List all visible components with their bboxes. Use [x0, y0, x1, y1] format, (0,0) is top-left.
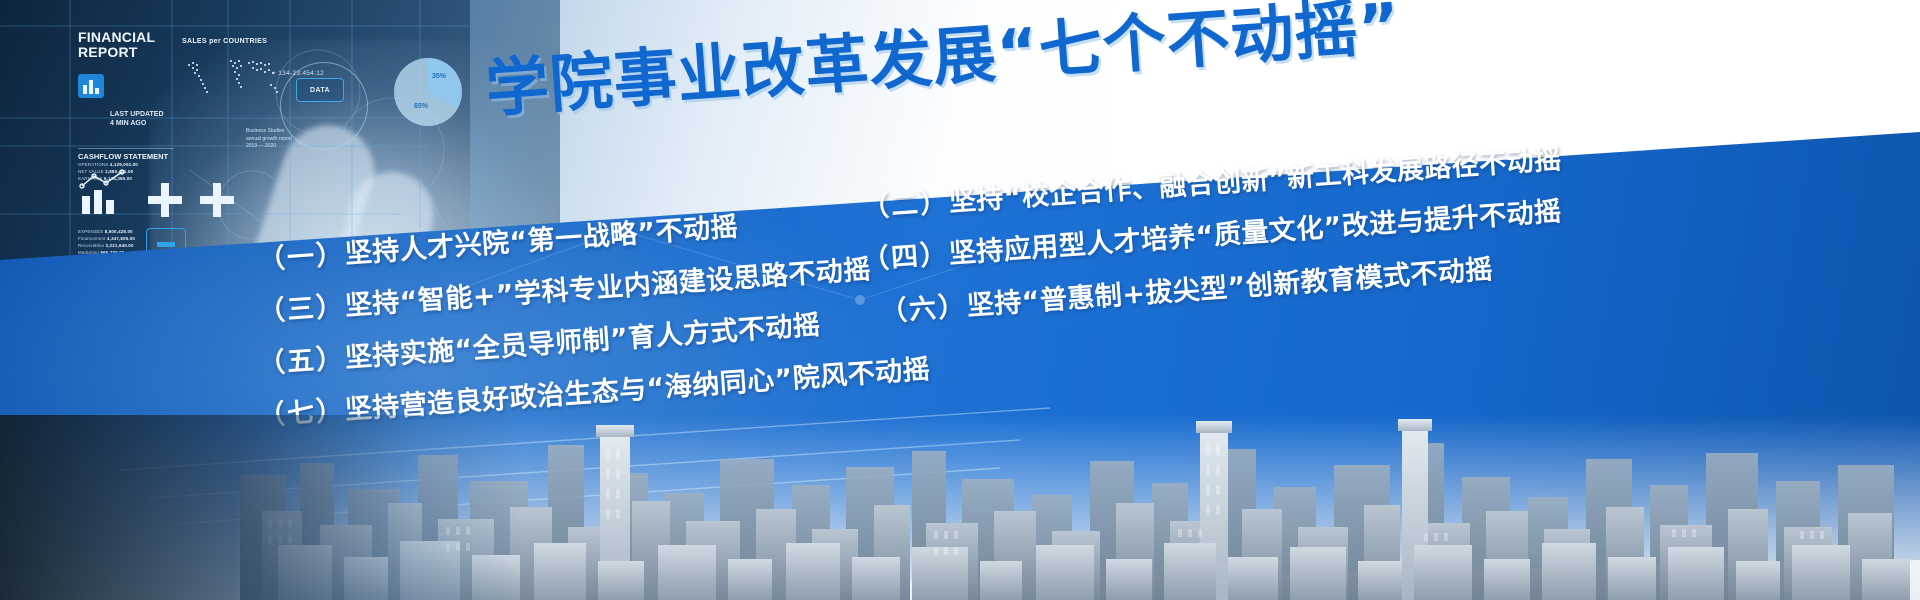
- last-updated-line2: 4 MIN AGO: [110, 120, 146, 127]
- cashflow-title: CASHFLOW STATEMENT: [78, 152, 174, 161]
- business-label-line2: annual growth report: [246, 136, 292, 142]
- cashflow-row-label: OPERATIONS: [78, 162, 108, 167]
- bar-chart-icon: [78, 74, 104, 98]
- list-item-number: （一）: [257, 239, 346, 276]
- business-label-line1: Business Studies: [246, 128, 284, 134]
- expenses-row-value: 3,221,640.00: [106, 243, 134, 248]
- financial-title-line1: FINANCIAL: [78, 29, 155, 45]
- cashflow-row-value: 4,129,002.00: [110, 162, 138, 167]
- plus-icon: [213, 183, 221, 217]
- financial-title-line2: REPORT: [78, 44, 138, 60]
- banner-root: FINANCIAL REPORT LAST UPDATED 4 MIN AGO …: [0, 0, 1920, 600]
- city-skyline-image: [0, 415, 1920, 600]
- last-updated-line1: LAST UPDATED: [110, 111, 164, 118]
- list-item-number: （四）: [861, 239, 950, 276]
- list-item-number: （六）: [879, 291, 968, 328]
- list-item-number: （三）: [257, 291, 346, 328]
- expenses-row-value: 8,500,428.00: [105, 229, 133, 234]
- svg-text:35%: 35%: [432, 73, 447, 80]
- expenses-row-label: EXPENSES: [78, 229, 103, 234]
- business-label-line3: 2019 — 2020: [246, 143, 276, 149]
- world-map-icon: [182, 50, 292, 106]
- ring-decoration: [280, 62, 368, 150]
- line-bar-chart-icon: [78, 168, 132, 216]
- svg-text:65%: 65%: [414, 103, 429, 110]
- expenses-row-label: Financement: [78, 236, 106, 241]
- pie-chart-icon: 35% 65%: [388, 52, 468, 132]
- financial-report-card: FINANCIAL REPORT LAST UPDATED 4 MIN AGO: [78, 30, 174, 150]
- expenses-row-label: Receivables: [78, 243, 104, 248]
- list-item-number: （二）: [861, 187, 950, 224]
- business-studies-label: Business Studies annual growth report 20…: [246, 128, 292, 151]
- expenses-row-value: 4,347,805.00: [107, 236, 135, 241]
- sales-per-countries-label: SALES per COUNTRIES: [182, 38, 267, 45]
- plus-icon: [161, 183, 169, 217]
- list-item-number: （五）: [257, 343, 346, 380]
- minus-icon: [157, 242, 175, 247]
